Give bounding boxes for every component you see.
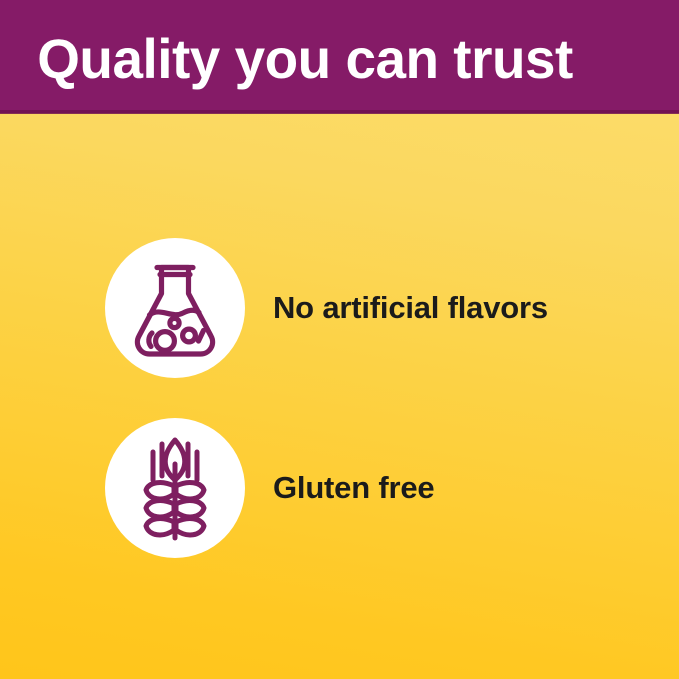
feature-list: No artificial flavors: [0, 113, 679, 679]
feature-label: Gluten free: [273, 470, 434, 506]
quality-you-can-trust-poster: Quality you can trust: [0, 0, 679, 679]
flask-icon: [127, 257, 223, 359]
wheat-icon: [129, 434, 221, 542]
feature-icon-badge: [105, 418, 245, 558]
feature-item-gluten-free: Gluten free: [0, 418, 679, 558]
feature-item-no-artificial-flavors: No artificial flavors: [0, 238, 679, 378]
feature-icon-badge: [105, 238, 245, 378]
page-title: Quality you can trust: [0, 30, 573, 87]
feature-label: No artificial flavors: [273, 290, 548, 326]
header-band: Quality you can trust: [0, 0, 679, 113]
